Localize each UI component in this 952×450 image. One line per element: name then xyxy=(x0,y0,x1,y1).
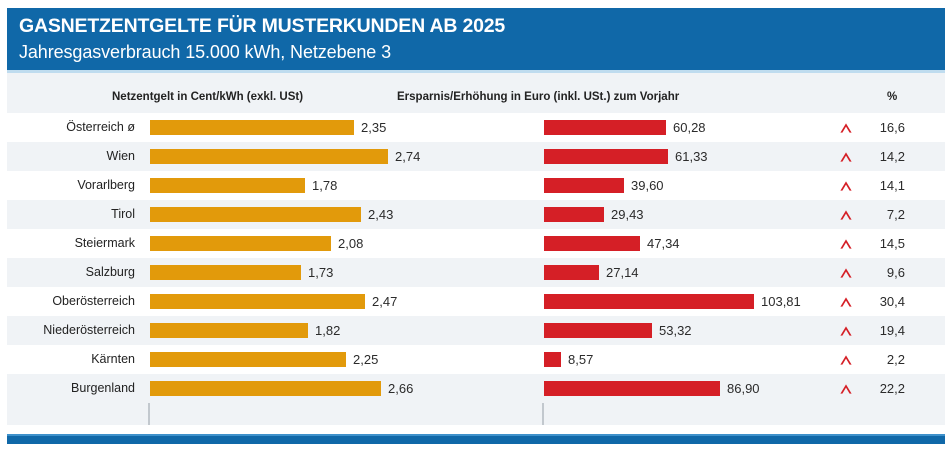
bar-value-ersparnis: 103,81 xyxy=(761,287,801,316)
bar-ersparnis xyxy=(544,207,604,222)
arrow-up-icon xyxy=(835,345,857,374)
chart-header: GASNETZENTGELTE FÜR MUSTERKUNDEN AB 2025… xyxy=(7,8,945,70)
bar-value-ersparnis: 86,90 xyxy=(727,374,760,403)
percent-value: 16,6 xyxy=(859,113,905,142)
bar-netzentgelt xyxy=(150,352,346,367)
arrow-up-icon xyxy=(835,200,857,229)
bar-netzentgelt xyxy=(150,323,308,338)
bar-netzentgelt xyxy=(150,178,305,193)
percent-value: 30,4 xyxy=(859,287,905,316)
bar-ersparnis xyxy=(544,352,561,367)
percent-value: 14,2 xyxy=(859,142,905,171)
arrow-up-icon xyxy=(835,171,857,200)
arrow-up-icon xyxy=(835,374,857,403)
table-row: Vorarlberg1,7839,6014,1 xyxy=(7,171,945,200)
row-label: Tirol xyxy=(7,200,135,229)
footer-bar xyxy=(7,434,945,444)
bar-netzentgelt xyxy=(150,236,331,251)
row-label: Salzburg xyxy=(7,258,135,287)
table-row: Österreich ø2,3560,2816,6 xyxy=(7,113,945,142)
table-row: Tirol2,4329,437,2 xyxy=(7,200,945,229)
bar-netzentgelt xyxy=(150,149,388,164)
row-label: Steiermark xyxy=(7,229,135,258)
row-label: Burgenland xyxy=(7,374,135,403)
row-label: Wien xyxy=(7,142,135,171)
bar-ersparnis xyxy=(544,294,754,309)
row-label: Österreich ø xyxy=(7,113,135,142)
table-row: Oberösterreich2,47103,8130,4 xyxy=(7,287,945,316)
bar-value-netzentgelt: 2,43 xyxy=(368,200,393,229)
bar-value-netzentgelt: 2,47 xyxy=(372,287,397,316)
row-label: Vorarlberg xyxy=(7,171,135,200)
bar-value-netzentgelt: 1,78 xyxy=(312,171,337,200)
arrow-up-icon xyxy=(835,113,857,142)
table-row: Niederösterreich1,8253,3219,4 xyxy=(7,316,945,345)
bar-ersparnis xyxy=(544,120,666,135)
table-row: Salzburg1,7327,149,6 xyxy=(7,258,945,287)
bar-ersparnis xyxy=(544,236,640,251)
bar-value-netzentgelt: 2,66 xyxy=(388,374,413,403)
bar-value-ersparnis: 61,33 xyxy=(675,142,708,171)
percent-value: 9,6 xyxy=(859,258,905,287)
bar-value-netzentgelt: 1,82 xyxy=(315,316,340,345)
arrow-up-icon xyxy=(835,258,857,287)
table-row: Kärnten2,258,572,2 xyxy=(7,345,945,374)
chart-body: Netzentgelt in Cent/kWh (exkl. USt) Ersp… xyxy=(7,73,945,425)
column-headers: Netzentgelt in Cent/kWh (exkl. USt) Ersp… xyxy=(7,73,945,115)
bar-value-netzentgelt: 2,25 xyxy=(353,345,378,374)
bar-value-netzentgelt: 2,74 xyxy=(395,142,420,171)
chart-rows: Österreich ø2,3560,2816,6Wien2,7461,3314… xyxy=(7,113,945,403)
bar-ersparnis xyxy=(544,178,624,193)
bar-netzentgelt xyxy=(150,207,361,222)
percent-value: 7,2 xyxy=(859,200,905,229)
row-label: Oberösterreich xyxy=(7,287,135,316)
bar-netzentgelt xyxy=(150,381,381,396)
bar-ersparnis xyxy=(544,149,668,164)
chart-page: GASNETZENTGELTE FÜR MUSTERKUNDEN AB 2025… xyxy=(0,0,952,450)
bar-value-netzentgelt: 1,73 xyxy=(308,258,333,287)
percent-value: 19,4 xyxy=(859,316,905,345)
arrow-up-icon xyxy=(835,287,857,316)
arrow-up-icon xyxy=(835,142,857,171)
bar-value-ersparnis: 29,43 xyxy=(611,200,644,229)
table-row: Steiermark2,0847,3414,5 xyxy=(7,229,945,258)
table-row: Wien2,7461,3314,2 xyxy=(7,142,945,171)
bar-value-ersparnis: 8,57 xyxy=(568,345,593,374)
page-title: GASNETZENTGELTE FÜR MUSTERKUNDEN AB 2025 xyxy=(19,13,945,39)
percent-value: 22,2 xyxy=(859,374,905,403)
bar-netzentgelt xyxy=(150,265,301,280)
column-header-percent: % xyxy=(887,91,897,103)
bar-ersparnis xyxy=(544,323,652,338)
bar-value-ersparnis: 27,14 xyxy=(606,258,639,287)
percent-value: 14,5 xyxy=(859,229,905,258)
bar-value-ersparnis: 53,32 xyxy=(659,316,692,345)
table-row: Burgenland2,6686,9022,2 xyxy=(7,374,945,403)
percent-value: 2,2 xyxy=(859,345,905,374)
bar-netzentgelt xyxy=(150,120,354,135)
percent-value: 14,1 xyxy=(859,171,905,200)
arrow-up-icon xyxy=(835,316,857,345)
row-label: Niederösterreich xyxy=(7,316,135,345)
arrow-up-icon xyxy=(835,229,857,258)
column-header-netzentgelt: Netzentgelt in Cent/kWh (exkl. USt) xyxy=(112,91,303,103)
bar-netzentgelt xyxy=(150,294,365,309)
column-header-ersparnis: Ersparnis/Erhöhung in Euro (inkl. USt.) … xyxy=(397,91,679,103)
bar-value-netzentgelt: 2,08 xyxy=(338,229,363,258)
bar-value-ersparnis: 60,28 xyxy=(673,113,706,142)
bar-ersparnis xyxy=(544,265,599,280)
bar-value-ersparnis: 47,34 xyxy=(647,229,680,258)
bar-value-ersparnis: 39,60 xyxy=(631,171,664,200)
bar-value-netzentgelt: 2,35 xyxy=(361,113,386,142)
bar-ersparnis xyxy=(544,381,720,396)
row-label: Kärnten xyxy=(7,345,135,374)
page-subtitle: Jahresgasverbrauch 15.000 kWh, Netzebene… xyxy=(19,39,945,65)
